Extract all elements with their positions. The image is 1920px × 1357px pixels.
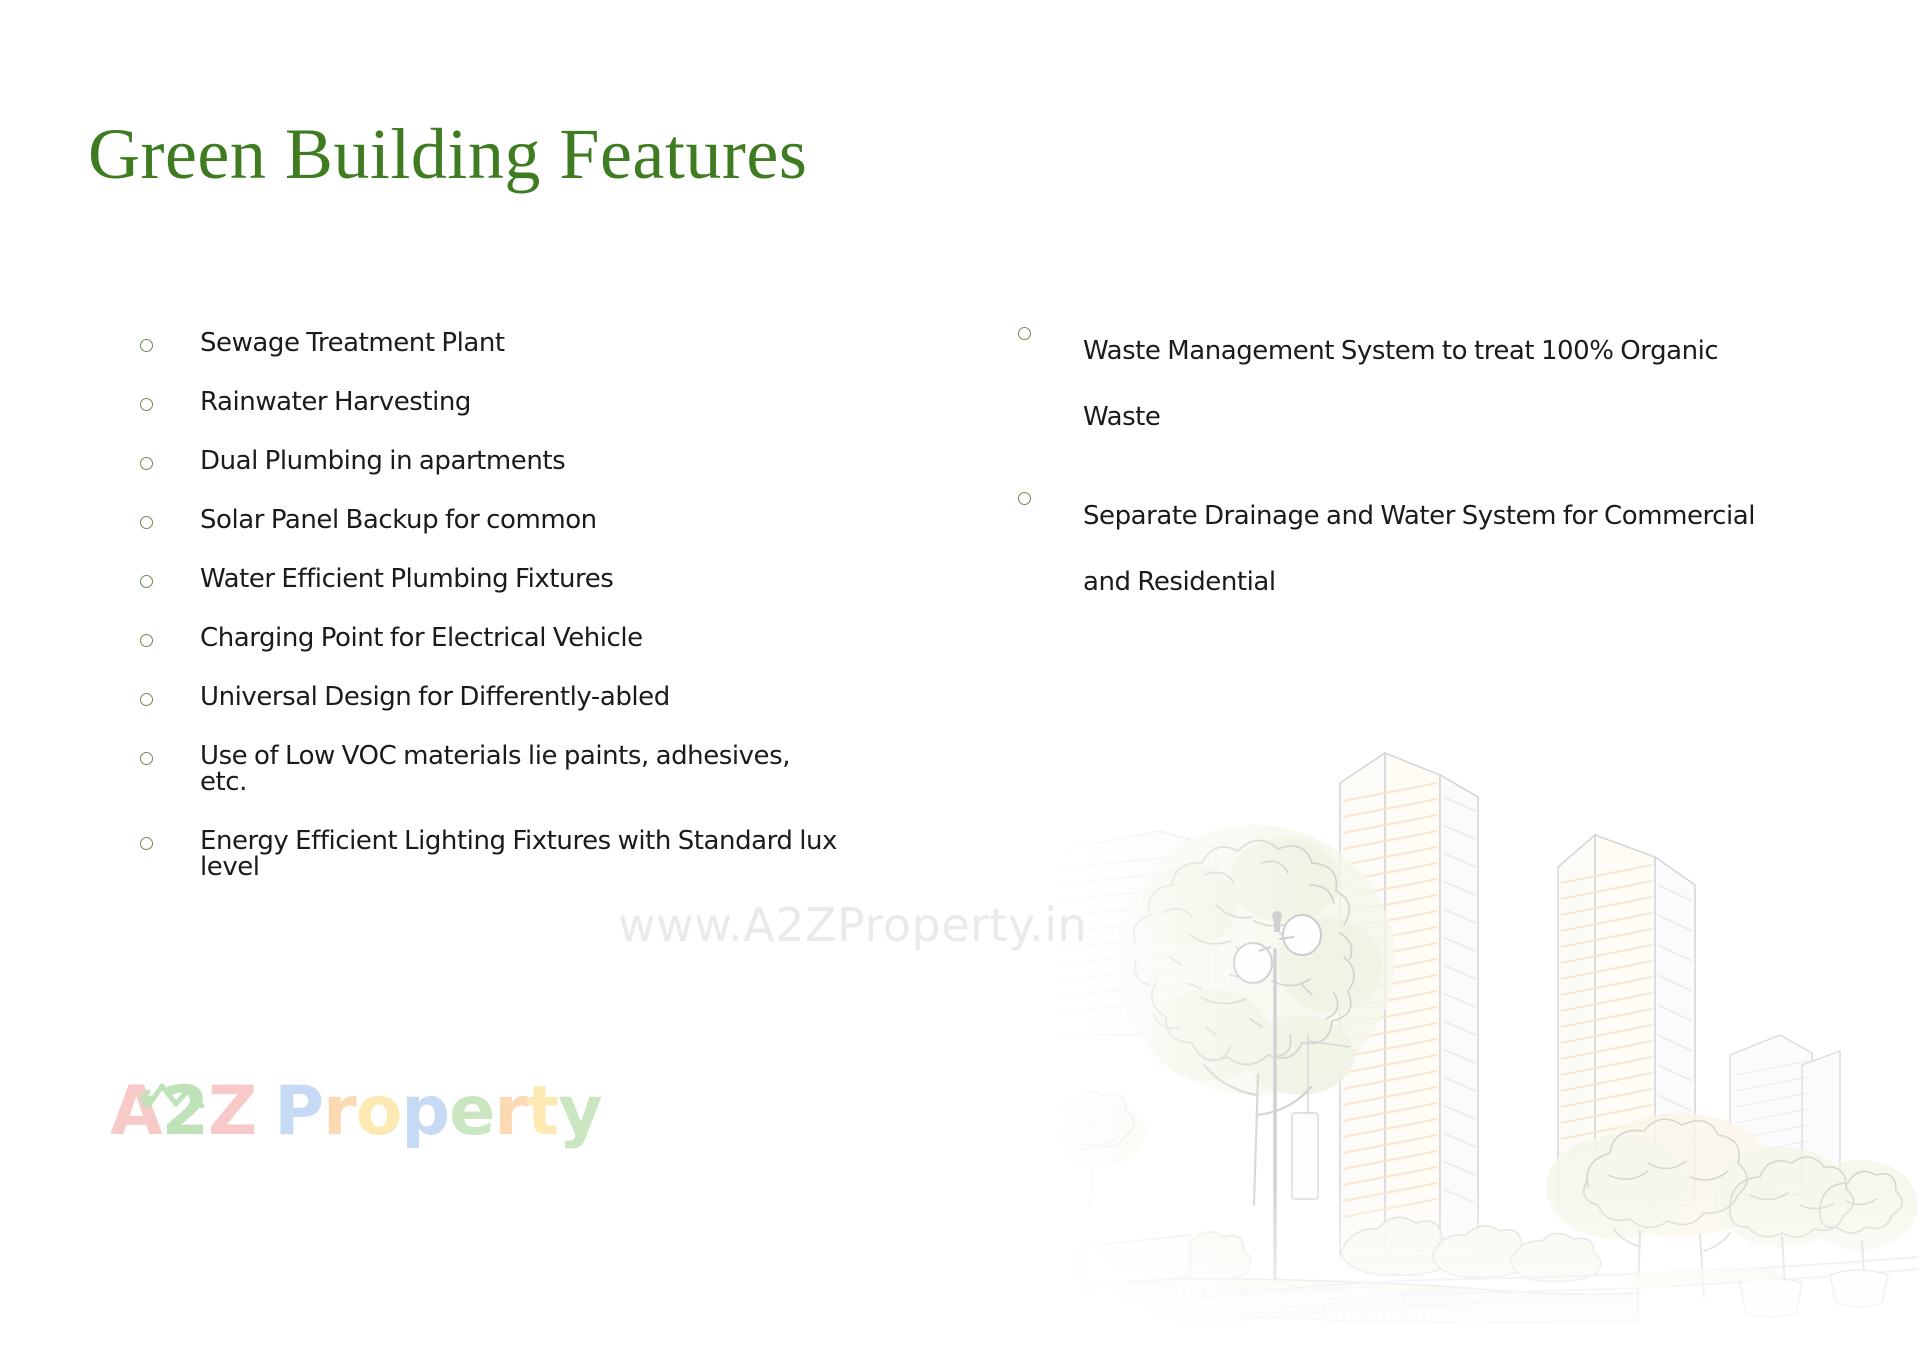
- logo-letter-r1: r: [323, 1078, 356, 1146]
- list-item-label: Sewage Treatment Plant: [200, 330, 840, 356]
- list-item: Separate Drainage and Water System for C…: [1018, 483, 1778, 616]
- logo-letter-p2: p: [401, 1078, 449, 1146]
- logo-letter-p1: P: [274, 1078, 323, 1146]
- list-item-label: Solar Panel Backup for common: [200, 507, 840, 533]
- list-item-label: Waste Management System to treat 100% Or…: [1083, 318, 1778, 451]
- logo-letter-t: t: [527, 1078, 559, 1146]
- circle-outline-bullet-icon: [140, 339, 153, 352]
- list-item: Water Efficient Plumbing Fixtures: [140, 566, 840, 592]
- list-item-label: Dual Plumbing in apartments: [200, 448, 840, 474]
- circle-outline-bullet-icon: [140, 693, 153, 706]
- list-item: Sewage Treatment Plant: [140, 330, 840, 356]
- list-item-label: Rainwater Harvesting: [200, 389, 840, 415]
- circle-outline-bullet-icon: [140, 837, 153, 850]
- logo-letter-r2: r: [494, 1078, 527, 1146]
- logo-letter-a: A: [110, 1078, 162, 1146]
- circle-outline-bullet-icon: [140, 575, 153, 588]
- list-item-label: Use of Low VOC materials lie paints, adh…: [200, 743, 840, 795]
- features-left-column: Sewage Treatment Plant Rainwater Harvest…: [140, 330, 840, 913]
- list-item: Use of Low VOC materials lie paints, adh…: [140, 743, 840, 795]
- logo-letter-y: y: [558, 1078, 601, 1146]
- circle-outline-bullet-icon: [140, 752, 153, 765]
- circle-outline-bullet-icon: [140, 516, 153, 529]
- list-item: Rainwater Harvesting: [140, 389, 840, 415]
- slide-canvas: www.A2ZProperty.in Green Building Featur…: [0, 0, 1920, 1357]
- city-park-sketch-illustration: [1040, 735, 1920, 1350]
- list-item: Solar Panel Backup for common: [140, 507, 840, 533]
- list-item: Energy Efficient Lighting Fixtures with …: [140, 828, 840, 880]
- logo-letter-o: o: [356, 1078, 402, 1146]
- logo-letter-z: Z: [208, 1078, 256, 1146]
- list-item: Waste Management System to treat 100% Or…: [1018, 318, 1778, 451]
- circle-outline-bullet-icon: [140, 398, 153, 411]
- page-title: Green Building Features: [88, 118, 807, 190]
- features-right-column: Waste Management System to treat 100% Or…: [1018, 318, 1778, 647]
- list-item: Universal Design for Differently-abled: [140, 684, 840, 710]
- list-item-label: Energy Efficient Lighting Fixtures with …: [200, 828, 840, 880]
- circle-outline-bullet-icon: [1018, 492, 1031, 505]
- list-item: Charging Point for Electrical Vehicle: [140, 625, 840, 651]
- brand-logo: A2ZProperty: [110, 1078, 602, 1146]
- circle-outline-bullet-icon: [140, 634, 153, 647]
- logo-letter-e: e: [449, 1078, 494, 1146]
- circle-outline-bullet-icon: [1018, 327, 1031, 340]
- list-item-label: Charging Point for Electrical Vehicle: [200, 625, 840, 651]
- circle-outline-bullet-icon: [140, 457, 153, 470]
- list-item: Dual Plumbing in apartments: [140, 448, 840, 474]
- logo-letter-2: 2: [162, 1078, 208, 1146]
- list-item-label: Universal Design for Differently-abled: [200, 684, 840, 710]
- list-item-label: Separate Drainage and Water System for C…: [1083, 483, 1778, 616]
- list-item-label: Water Efficient Plumbing Fixtures: [200, 566, 840, 592]
